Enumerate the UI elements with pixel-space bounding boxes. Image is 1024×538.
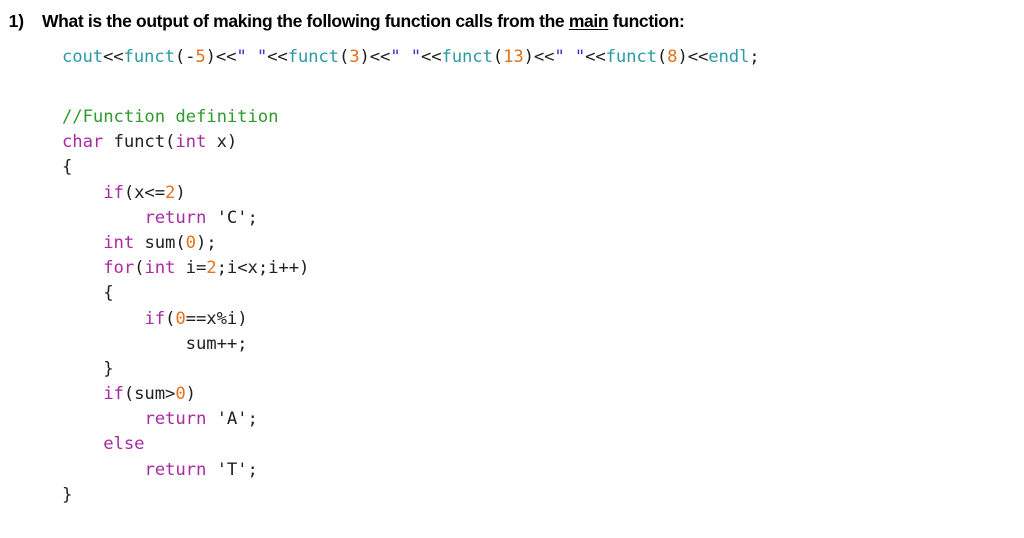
comment-line-token-0: //Function definition (62, 107, 278, 127)
if-base-case-line-token-0 (62, 183, 103, 203)
signature-line: char funct(int x) (62, 130, 309, 155)
question-text-part-2: function: (608, 11, 684, 31)
call-line-token-7: << (267, 47, 288, 67)
comment-line: //Function definition (62, 105, 309, 130)
close-brace-line: } (62, 483, 309, 508)
call-line-token-8: funct (288, 47, 339, 67)
for-loop-line-token-6: ;i<x;i++) (217, 258, 310, 278)
if-sum-line: if(sum>0) (62, 382, 309, 407)
call-line-token-0: cout (62, 47, 103, 67)
call-line-token-6: " " (236, 47, 267, 67)
open-brace-line-token-0: { (62, 157, 72, 177)
if-divisor-line-token-4: ==x%i) (186, 309, 248, 329)
signature-line-token-0: char (62, 132, 103, 152)
call-line-token-16: 13 (503, 47, 524, 67)
if-base-case-line-token-4: ) (175, 183, 185, 203)
open-brace-line: { (62, 155, 309, 180)
loop-open-brace-token-0: { (62, 283, 114, 303)
call-line-token-18: " " (554, 47, 585, 67)
call-line-token-5: )<< (206, 47, 237, 67)
call-line-token-22: 8 (667, 47, 677, 67)
call-line-token-1: << (103, 47, 124, 67)
if-divisor-line-token-0 (62, 309, 144, 329)
else-line: else (62, 432, 309, 457)
sum-decl-line-token-2: sum( (134, 233, 186, 253)
call-line-token-19: << (585, 47, 606, 67)
return-t-line-token-2: 'T'; (206, 460, 258, 480)
sum-increment-token-0: sum++; (62, 334, 247, 354)
for-loop-line-token-2: ( (134, 258, 144, 278)
sum-decl-line-token-0 (62, 233, 103, 253)
question-block: 1) What is the output of making the foll… (0, 0, 1024, 32)
return-a-line: return 'A'; (62, 407, 309, 432)
if-sum-line-token-0 (62, 384, 103, 404)
call-line-token-13: << (421, 47, 442, 67)
call-line-token-10: 3 (349, 47, 359, 67)
for-loop-line-token-3: int (144, 258, 175, 278)
loop-close-brace-token-0: } (62, 359, 114, 379)
question-number: 1) (0, 11, 42, 32)
signature-line-token-3: x) (206, 132, 237, 152)
question-header: 1) What is the output of making the foll… (0, 0, 1024, 32)
if-divisor-line-token-1: if (144, 309, 165, 329)
for-loop-line: for(int i=2;i<x;i++) (62, 256, 309, 281)
if-divisor-line-token-3: 0 (175, 309, 185, 329)
question-text: What is the output of making the followi… (42, 11, 684, 32)
call-line-token-24: endl (708, 47, 749, 67)
question-text-part-1: What is the output of making the followi… (42, 11, 569, 31)
call-line-token-23: )<< (677, 47, 708, 67)
call-line-token-9: ( (339, 47, 349, 67)
call-line-token-20: funct (606, 47, 657, 67)
call-line-token-12: " " (390, 47, 421, 67)
return-t-line: return 'T'; (62, 458, 309, 483)
if-base-case-line-token-1: if (103, 183, 124, 203)
else-line-token-0 (62, 434, 103, 454)
signature-line-token-2: int (175, 132, 206, 152)
for-loop-line-token-5: 2 (206, 258, 216, 278)
call-line-token-21: ( (657, 47, 667, 67)
function-call-code-line: cout<<funct(-5)<<" "<<funct(3)<<" "<<fun… (62, 45, 760, 70)
sum-decl-line-token-1: int (103, 233, 134, 253)
return-t-line-token-0 (62, 460, 144, 480)
sum-decl-line-token-3: 0 (186, 233, 196, 253)
if-base-case-line-token-3: 2 (165, 183, 175, 203)
if-sum-line-token-3: 0 (175, 384, 185, 404)
return-c-line-token-2: 'C'; (206, 208, 258, 228)
if-base-case-line: if(x<=2) (62, 181, 309, 206)
signature-line-token-1: funct( (103, 132, 175, 152)
if-divisor-line-token-2: ( (165, 309, 175, 329)
call-line-token-25: ; (749, 47, 759, 67)
if-sum-line-token-2: (sum> (124, 384, 176, 404)
return-t-line-token-1: return (144, 460, 206, 480)
call-line-token-11: )<< (359, 47, 390, 67)
call-line-token-15: ( (493, 47, 503, 67)
call-line-token-17: )<< (524, 47, 555, 67)
question-underlined-keyword: main (569, 11, 608, 31)
if-divisor-line: if(0==x%i) (62, 307, 309, 332)
for-loop-line-token-4: i= (175, 258, 206, 278)
return-a-line-token-1: return (144, 409, 206, 429)
if-base-case-line-token-2: (x<= (124, 183, 165, 203)
if-sum-line-token-1: if (103, 384, 124, 404)
return-a-line-token-0 (62, 409, 144, 429)
call-line-token-14: funct (442, 47, 493, 67)
return-c-line: return 'C'; (62, 206, 309, 231)
function-definition-code-block: //Function definitionchar funct(int x){ … (62, 105, 309, 508)
call-line-token-2: funct (124, 47, 175, 67)
sum-decl-line-token-4: ); (196, 233, 217, 253)
call-line-token-3: (- (175, 47, 196, 67)
return-c-line-token-1: return (144, 208, 206, 228)
return-c-line-token-0 (62, 208, 144, 228)
sum-increment: sum++; (62, 332, 309, 357)
else-line-token-1: else (103, 434, 144, 454)
loop-close-brace: } (62, 357, 309, 382)
return-a-line-token-2: 'A'; (206, 409, 258, 429)
loop-open-brace: { (62, 281, 309, 306)
call-line-token-4: 5 (195, 47, 205, 67)
for-loop-line-token-0 (62, 258, 103, 278)
if-sum-line-token-4: ) (186, 384, 196, 404)
for-loop-line-token-1: for (103, 258, 134, 278)
sum-decl-line: int sum(0); (62, 231, 309, 256)
close-brace-line-token-0: } (62, 485, 72, 505)
